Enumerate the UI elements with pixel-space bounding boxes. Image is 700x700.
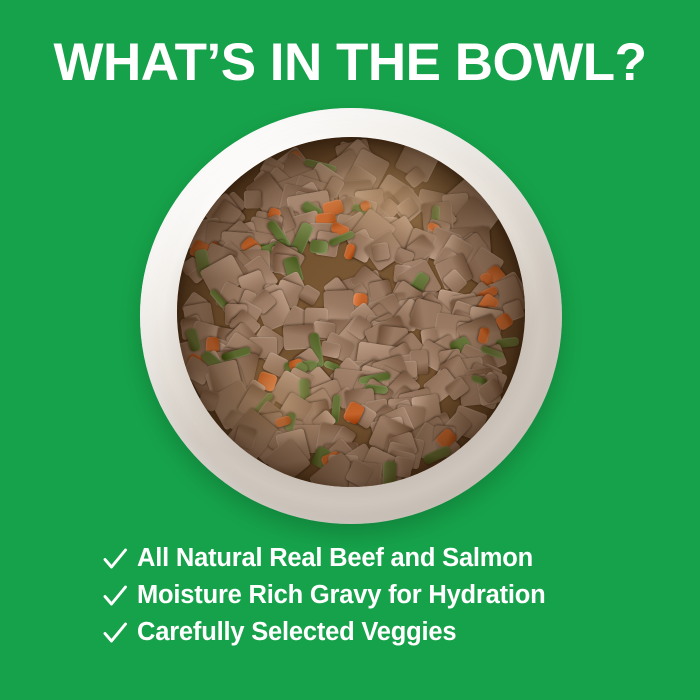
bowl-food-contents	[177, 137, 525, 486]
green-veggie-piece	[310, 239, 329, 254]
check-icon	[100, 581, 130, 611]
product-feature-poster: WHAT’S IN THE BOWL? All Natural Real Bee…	[0, 0, 700, 700]
benefit-label: All Natural Real Beef and Salmon	[137, 544, 533, 573]
food-bowl-image	[140, 108, 562, 524]
check-icon	[100, 618, 130, 648]
benefit-list: All Natural Real Beef and Salmon Moistur…	[100, 540, 640, 651]
meat-chunk	[372, 242, 391, 262]
green-veggie-piece	[383, 461, 397, 487]
list-item: Moisture Rich Gravy for Hydration	[100, 577, 640, 614]
benefit-label: Moisture Rich Gravy for Hydration	[137, 581, 546, 610]
meat-chunk	[320, 340, 342, 359]
benefit-label: Carefully Selected Veggies	[137, 618, 456, 647]
meat-chunk	[244, 190, 262, 208]
check-icon	[100, 544, 130, 574]
page-title: WHAT’S IN THE BOWL?	[0, 36, 700, 89]
list-item: All Natural Real Beef and Salmon	[100, 540, 640, 577]
list-item: Carefully Selected Veggies	[100, 614, 640, 651]
